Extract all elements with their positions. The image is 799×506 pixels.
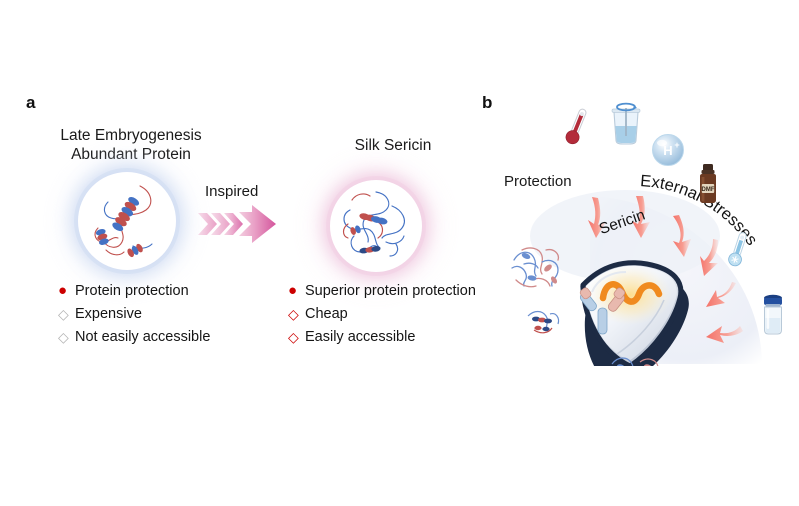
list-item: ◇ Cheap bbox=[288, 303, 476, 324]
list-item: ● Superior protein protection bbox=[288, 280, 476, 301]
svg-text:H: H bbox=[663, 143, 672, 158]
red-dot-icon: ● bbox=[58, 283, 75, 298]
grey-diamond-icon: ◇ bbox=[58, 307, 75, 321]
stirring-beaker-icon bbox=[612, 104, 640, 144]
list-item-label: Protein protection bbox=[75, 283, 189, 299]
lea-protein-circle bbox=[78, 172, 176, 270]
lea-attribute-list: ● Protein protection ◇ Expensive ◇ Not e… bbox=[58, 280, 210, 349]
red-diamond-icon: ◇ bbox=[288, 330, 305, 344]
lea-protein-title: Late Embryogenesis Abundant Protein bbox=[36, 126, 226, 164]
list-item: ◇ Expensive bbox=[58, 303, 210, 324]
sericin-protein-ribbon bbox=[330, 180, 422, 272]
list-item-label: Superior protein protection bbox=[305, 283, 476, 299]
lea-protein-ribbon bbox=[78, 172, 176, 270]
proton-sphere-icon: H + bbox=[653, 135, 684, 166]
figure-canvas: a b Late Embryogenesis Abundant Protein … bbox=[0, 0, 799, 506]
list-item: ● Protein protection bbox=[58, 280, 210, 301]
grey-diamond-icon: ◇ bbox=[58, 330, 75, 344]
list-item: ◇ Easily accessible bbox=[288, 326, 476, 347]
sericin-attribute-list: ● Superior protein protection ◇ Cheap ◇ … bbox=[288, 280, 476, 349]
svg-text:+: + bbox=[674, 140, 679, 150]
list-item: ◇ Not easily accessible bbox=[58, 326, 210, 347]
sericin-protein-title: Silk Sericin bbox=[318, 136, 468, 155]
list-item-label: Expensive bbox=[75, 306, 142, 322]
vaccine-vial-icon bbox=[764, 295, 782, 334]
list-item-label: Easily accessible bbox=[305, 329, 415, 345]
lea-title-line-2: Abundant Protein bbox=[36, 145, 226, 164]
protein-helix-cluster bbox=[528, 312, 559, 333]
sericin-protein-circle bbox=[330, 180, 422, 272]
inspired-label: Inspired bbox=[205, 183, 258, 200]
red-diamond-icon: ◇ bbox=[288, 307, 305, 321]
red-dot-icon: ● bbox=[288, 283, 305, 298]
list-item-label: Not easily accessible bbox=[75, 329, 210, 345]
dmf-solvent-bottle-icon: DMF bbox=[700, 164, 716, 203]
list-item-label: Cheap bbox=[305, 306, 348, 322]
svg-text:DMF: DMF bbox=[702, 187, 715, 193]
inspired-arrow-icon bbox=[196, 203, 308, 245]
hot-thermometer-icon bbox=[564, 107, 590, 146]
lea-title-line-1: Late Embryogenesis bbox=[36, 126, 226, 145]
protection-label: Protection bbox=[504, 173, 572, 190]
panel-label-a: a bbox=[26, 93, 35, 113]
cold-thermometer-icon bbox=[727, 231, 750, 268]
